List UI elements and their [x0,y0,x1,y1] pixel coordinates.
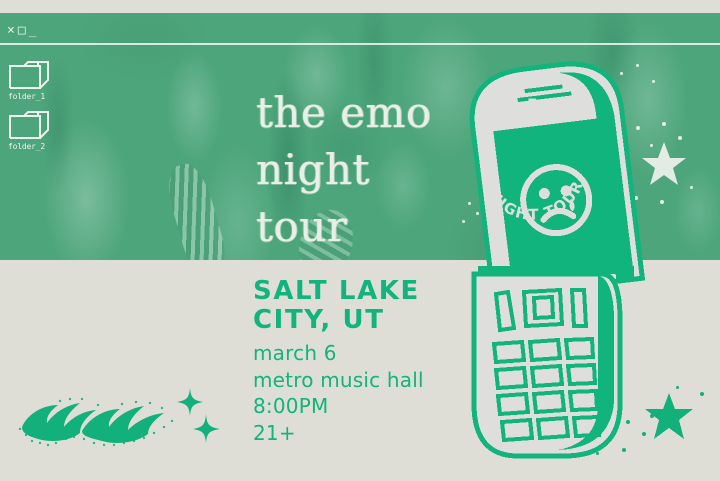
poster-canvas: × □ _ folder_1 folder_2 the emo night to… [0,0,720,481]
flip-phone-graphic: THE EMO NIGHT TOUR [452,52,662,470]
event-time: 8:00PM [253,393,424,420]
maximize-icon[interactable]: □ [18,24,26,37]
decor-dot [676,386,679,389]
decor-dot [690,186,693,189]
decor-dot [662,122,666,126]
decor-dot [678,136,682,140]
headline-line-2: night [256,141,432,198]
event-date: march 6 [253,340,424,367]
window-controls[interactable]: × □ _ [7,24,36,37]
desktop-folder-1[interactable]: folder_1 [8,58,60,101]
headline-line-1: the emo [256,84,432,141]
folder-1-label: folder_1 [8,92,60,101]
flame-graphic [14,383,186,449]
close-icon[interactable]: × [7,24,15,37]
event-details: SALT LAKE CITY, UT march 6 metro music h… [253,277,424,447]
event-city-line-2: CITY, UT [253,306,424,335]
sparkle-icon [176,386,222,444]
event-age-restriction: 21+ [253,420,424,447]
poster-headline: the emo night tour [256,84,432,255]
event-venue: metro music hall [253,367,424,394]
folder-icon [8,108,50,140]
desktop-folder-2[interactable]: folder_2 [8,108,60,151]
minimize-icon[interactable]: _ [29,24,37,37]
folder-2-label: folder_2 [8,142,60,151]
decor-dot [700,392,704,396]
window-divider-rule [0,43,720,45]
event-city-line-1: SALT LAKE [253,277,424,306]
folder-icon [8,58,50,90]
headline-line-3: tour [256,198,432,255]
